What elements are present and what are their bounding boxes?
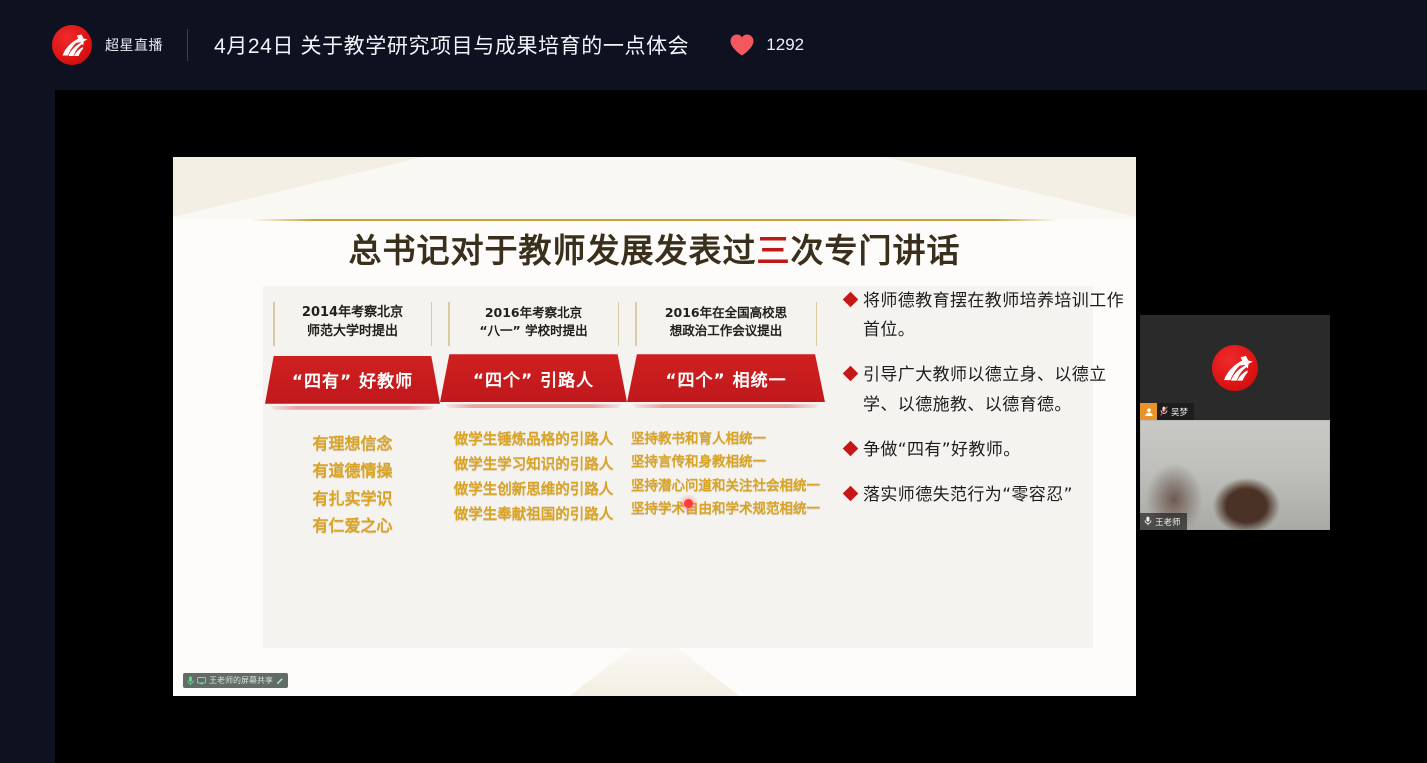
bullet-text: 引导广大教师以德立身、以德立学、以德施教、以德育德。 — [863, 361, 1130, 419]
page-title: 4月24日 关于教学研究项目与成果培育的一点体会 — [214, 30, 689, 60]
participant-tile[interactable]: 王老师 — [1140, 420, 1330, 530]
shared-slide: 总书记对于教师发展发表过三次专门讲话 2014年考察北京 师范大学时提出 “四有… — [173, 157, 1136, 696]
video-stage[interactable]: 总书记对于教师发展发表过三次专门讲话 2014年考察北京 师范大学时提出 “四有… — [55, 90, 1427, 763]
list-item: 有理想信念 — [265, 430, 440, 458]
column-header-line2: 师范大学时提出 — [265, 323, 440, 342]
diamond-bullet-icon — [843, 366, 859, 382]
pencil-icon[interactable] — [276, 677, 284, 685]
key-points-list: 将师德教育摆在教师培养培训工作首位。 引导广大教师以德立身、以德立学、以德施教、… — [845, 287, 1130, 526]
column-rule-left — [273, 302, 275, 346]
participant-name-badge: 王老师 — [1140, 513, 1187, 530]
like-group[interactable]: 1292 — [729, 33, 804, 57]
column-header: 2014年考察北京 师范大学时提出 — [265, 296, 440, 352]
list-item: 坚持学术自由和学术规范相统一 — [631, 498, 825, 521]
microphone-icon — [187, 676, 194, 686]
participant-name-badge: 吴梦 — [1140, 403, 1194, 420]
participant-tile[interactable]: 吴梦 — [1140, 315, 1330, 420]
bullet-text: 将师德教育摆在教师培养培训工作首位。 — [863, 287, 1130, 345]
column-rule-right — [431, 302, 433, 346]
column-list: 做学生锤炼品格的引路人 做学生学习知识的引路人 做学生创新思维的引路人 做学生奉… — [440, 428, 627, 528]
chaoxing-comet-logo-icon — [52, 25, 92, 65]
column-header-line2: 想政治工作会议提出 — [627, 322, 825, 340]
column-list: 坚持教书和育人相统一 坚持言传和身教相统一 坚持潜心问道和关注社会相统一 坚持学… — [627, 428, 825, 521]
title-divider-rule — [251, 219, 1058, 221]
list-item: 有仁爱之心 — [265, 512, 440, 540]
list-item: 坚持言传和身教相统一 — [631, 451, 825, 474]
list-item: 有扎实学识 — [265, 485, 440, 513]
column-rule-left — [448, 302, 450, 346]
column-list: 有理想信念 有道德情操 有扎实学识 有仁爱之心 — [265, 430, 440, 540]
monitor-icon — [197, 677, 206, 685]
list-item: 做学生创新思维的引路人 — [440, 478, 627, 503]
laser-pointer-dot — [684, 499, 693, 508]
participant-name: 吴梦 — [1171, 406, 1188, 418]
column-rule-right — [816, 302, 818, 346]
list-item: 有道德情操 — [265, 457, 440, 485]
bullet-item: 引导广大教师以德立身、以德立学、以德施教、以德育德。 — [845, 361, 1130, 419]
bullet-item: 将师德教育摆在教师培养培训工作首位。 — [845, 287, 1130, 345]
speech-columns: 2014年考察北京 师范大学时提出 “四有” 好教师 有理想信念 有道德情操 有… — [265, 296, 825, 646]
column-header-line1: 2016年考察北京 — [440, 304, 627, 322]
slide-title: 总书记对于教师发展发表过三次专门讲话 — [173, 224, 1136, 272]
speech-column: 2016年考察北京 “八一” 学校时提出 “四个” 引路人 做学生锤炼品格的引路… — [440, 296, 627, 528]
person-icon — [1140, 403, 1157, 420]
app-header: 超星直播 4月24日 关于教学研究项目与成果培育的一点体会 1292 — [0, 0, 1427, 90]
list-item: 做学生学习知识的引路人 — [440, 453, 627, 478]
column-header-line2: “八一” 学校时提出 — [440, 322, 627, 340]
header-divider — [187, 29, 188, 61]
speech-column: 2016年在全国高校思 想政治工作会议提出 “四个” 相统一 坚持教书和育人相统… — [627, 296, 825, 521]
column-banner: “四个” 相统一 — [627, 354, 825, 402]
diamond-bullet-icon — [843, 486, 859, 502]
bullet-item: 争做“四有”好教师。 — [845, 436, 1130, 465]
list-item: 坚持潜心问道和关注社会相统一 — [631, 475, 825, 498]
column-header: 2016年考察北京 “八一” 学校时提出 — [440, 296, 627, 350]
list-item: 坚持教书和育人相统一 — [631, 428, 825, 451]
list-item: 做学生奉献祖国的引路人 — [440, 503, 627, 528]
microphone-icon — [1144, 513, 1152, 531]
column-header-line1: 2016年在全国高校思 — [627, 304, 825, 322]
bullet-text: 落实师德失范行为“零容忍” — [863, 481, 1073, 510]
participant-name: 王老师 — [1155, 516, 1181, 528]
screen-share-chip[interactable]: 王老师的屏幕共享 — [183, 673, 288, 688]
slide-title-prefix: 总书记对于教师发展发表过 — [349, 231, 757, 270]
brand-name: 超星直播 — [105, 35, 163, 55]
share-chip-label: 王老师的屏幕共享 — [209, 675, 273, 686]
speech-column: 2014年考察北京 师范大学时提出 “四有” 好教师 有理想信念 有道德情操 有… — [265, 296, 440, 540]
heart-icon[interactable] — [729, 33, 755, 57]
list-item: 做学生锤炼品格的引路人 — [440, 428, 627, 453]
slide-title-suffix: 次专门讲话 — [791, 231, 961, 270]
column-header-line1: 2014年考察北京 — [265, 304, 440, 323]
chaoxing-comet-logo-icon — [1212, 345, 1258, 391]
column-banner-shadow — [627, 404, 825, 408]
diamond-bullet-icon — [843, 292, 859, 308]
column-banner-shadow — [440, 404, 627, 408]
diamond-bullet-icon — [843, 441, 859, 457]
bullet-item: 落实师德失范行为“零容忍” — [845, 481, 1130, 510]
column-rule-left — [635, 302, 637, 346]
brand-group[interactable]: 超星直播 — [52, 25, 163, 65]
mic-muted-icon — [1160, 403, 1168, 421]
column-rule-right — [618, 302, 620, 346]
column-banner-shadow — [265, 406, 440, 410]
like-count: 1292 — [766, 35, 804, 55]
live-stream-app: 超星直播 4月24日 关于教学研究项目与成果培育的一点体会 1292 总书记对于… — [0, 0, 1427, 763]
column-banner: “四个” 引路人 — [440, 354, 627, 402]
participant-video-rail: 吴梦 王老师 — [1140, 315, 1330, 530]
column-header: 2016年在全国高校思 想政治工作会议提出 — [627, 296, 825, 350]
column-banner: “四有” 好教师 — [265, 356, 440, 404]
slide-top-decoration — [173, 157, 1136, 219]
slide-title-highlight: 三 — [757, 231, 791, 270]
bullet-text: 争做“四有”好教师。 — [863, 436, 1021, 465]
